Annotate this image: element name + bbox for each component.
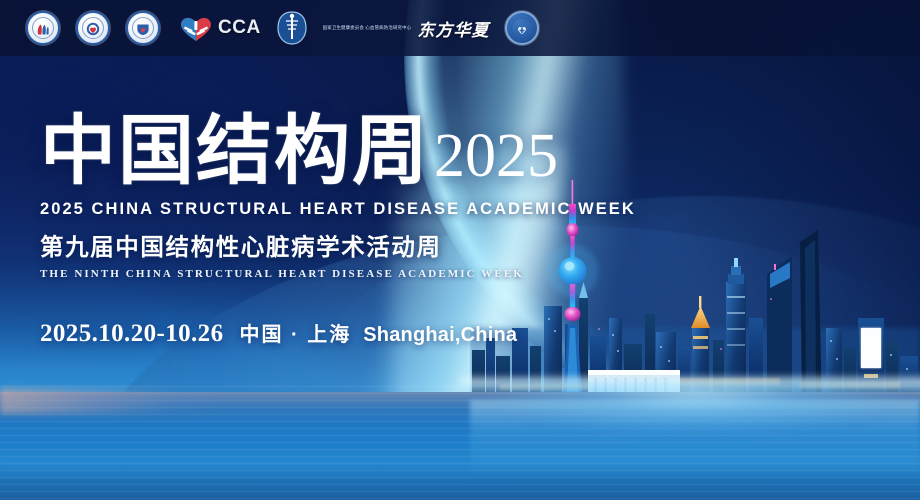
seal-icon [76,11,110,45]
title-year: 2025 [434,124,558,188]
page-title: 中国结构周 [40,112,430,192]
heart-ring-icon [85,22,101,35]
seal-icon [26,11,60,45]
main-title-row: 中国结构周 2025 [40,112,640,192]
dongfang-subtext: 国家卫生健康委员会 心血管病防治研究中心 [323,25,412,30]
conference-banner: CCA 国家卫生健康委员会 心血管病防治研究中心 东方华夏 [0,0,920,500]
logo-dongfang-huaxia[interactable]: 国家卫生健康委员会 心血管病防治研究中心 东方华夏 [323,16,490,41]
subtitle-chinese: 第九届中国结构性心脏病学术活动周 [40,228,640,262]
cca-label: CCA [218,17,261,39]
seal-icon [126,11,160,45]
subtitle-english: 2025 CHINA STRUCTURAL HEART DISEASE ACAD… [40,200,640,219]
heart-shield-icon [135,22,151,35]
logo-cca[interactable]: CCA [176,13,261,43]
subtitle-english-small: THE NINTH CHINA STRUCTURAL HEART DISEASE… [40,268,640,280]
event-date: 2025.10.20-10.26 [40,320,223,348]
caduceus-badge-icon [277,11,307,45]
people-icon [35,22,51,35]
water-warm-tint [0,388,230,414]
water-center-glow [470,384,920,454]
seal-icon [505,11,539,45]
event-location-en: Shanghai,China [363,324,517,347]
headline-block: 中国结构周 2025 2025 CHINA STRUCTURAL HEART D… [40,112,640,280]
event-location-cn: 中国 · 上海 [239,318,351,347]
event-dateline: 2025.10.20-10.26 中国 · 上海 Shanghai,China [40,318,517,348]
logo-chinese-medical-association[interactable] [26,11,60,45]
logo-cardiovascular-institute[interactable] [76,11,110,45]
logo-fuwai-hospital[interactable] [277,11,307,45]
logo-heart-house[interactable] [126,11,160,45]
heart-cross-icon [514,22,530,35]
sponsor-logo-bar: CCA 国家卫生健康委员会 心血管病防治研究中心 东方华夏 [0,0,920,56]
dongfang-wordmark: 东方华夏 [417,16,489,41]
logo-structural-heart-alliance[interactable] [505,11,539,45]
heart-handshake-icon [176,13,216,43]
